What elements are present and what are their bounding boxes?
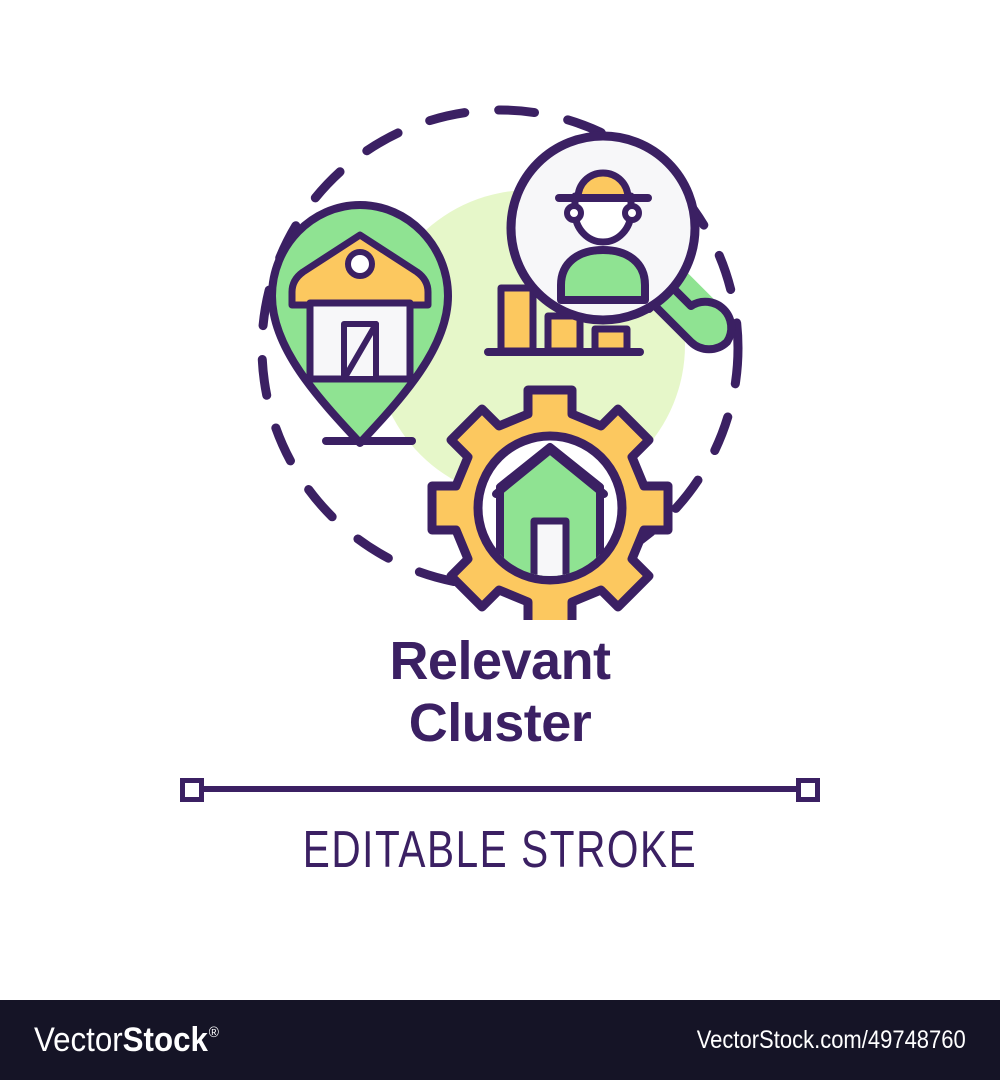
farmer-ear-left (567, 206, 581, 220)
gear-house-door (534, 521, 566, 581)
farmer-head (575, 196, 631, 242)
barn-window (348, 252, 372, 276)
farmer-ear-right (625, 206, 639, 220)
brand-thin: Vector (34, 1021, 123, 1060)
editable-stroke-marker: EDITABLE STROKE (0, 772, 1000, 880)
vectorstock-logo: VectorStock® (34, 1021, 219, 1060)
watermark-footer: VectorStock® VectorStock.com/49748760 (0, 1000, 1000, 1080)
stroke-handle-left-icon[interactable] (180, 778, 204, 802)
brand-bold: Stock (123, 1021, 208, 1060)
farmer-body (561, 250, 645, 300)
bar-chart-bar-3 (595, 329, 627, 351)
stroke-width-bar (180, 772, 820, 806)
relevant-cluster-illustration (0, 0, 1000, 620)
editable-stroke-label: EDITABLE STROKE (110, 820, 890, 880)
stroke-line (202, 786, 798, 792)
title-line-1: Relevant (0, 630, 1000, 692)
title-line-2: Cluster (0, 692, 1000, 754)
artboard: Relevant Cluster EDITABLE STROKE (0, 0, 1000, 1000)
stroke-handle-right-icon[interactable] (796, 778, 820, 802)
registered-trademark-icon: ® (209, 1024, 219, 1041)
gear-with-house (432, 390, 668, 620)
page-title: Relevant Cluster (0, 630, 1000, 754)
bar-chart-bar-1 (501, 288, 533, 351)
bar-chart-bar-2 (548, 316, 580, 351)
watermark-url: VectorStock.com/49748760 (697, 1026, 966, 1055)
